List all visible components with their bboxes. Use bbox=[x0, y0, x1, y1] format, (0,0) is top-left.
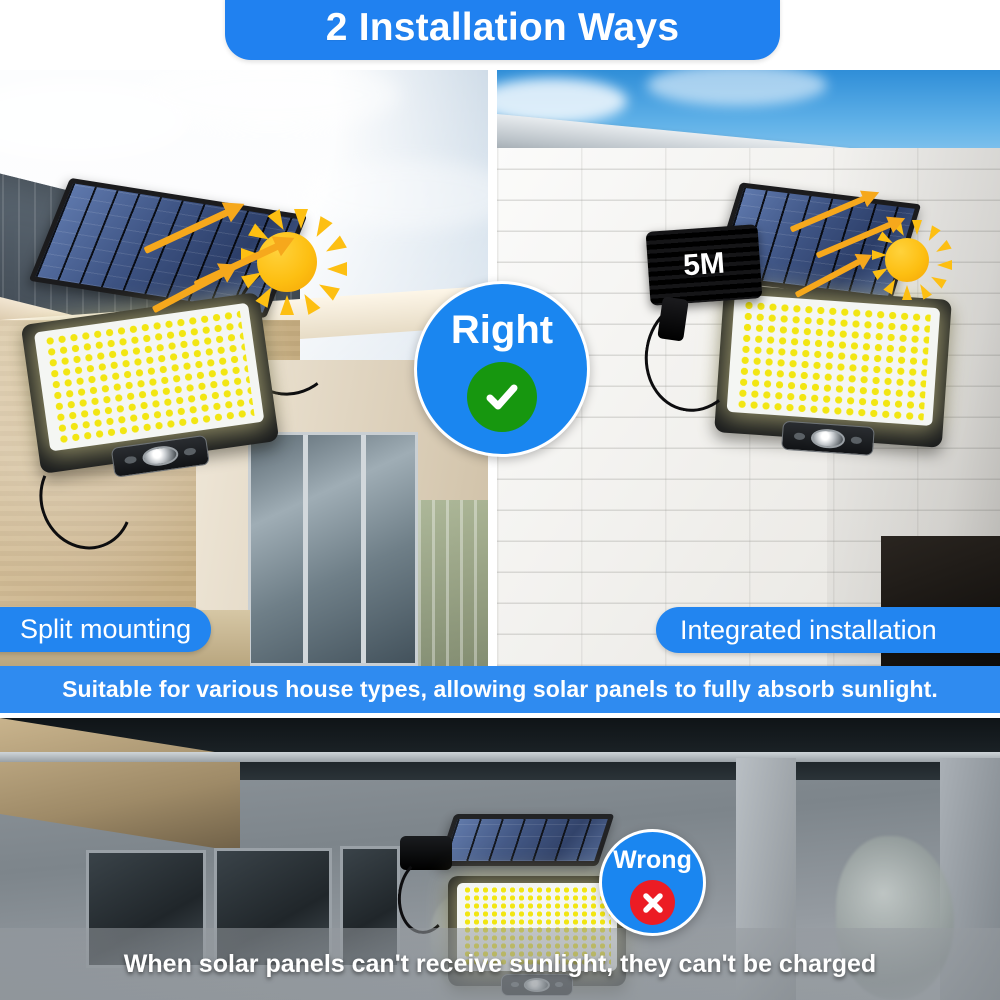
glass-door bbox=[248, 432, 418, 666]
sensor-pin bbox=[851, 437, 862, 444]
sun-ray bbox=[316, 279, 340, 301]
sun-ray bbox=[937, 260, 952, 270]
door-mullion bbox=[361, 435, 366, 663]
sun-ray bbox=[280, 295, 294, 315]
led-grid bbox=[43, 309, 255, 446]
badge-label: Wrong bbox=[613, 848, 692, 873]
cloud bbox=[647, 70, 827, 106]
photo-wrong-placement: When solar panels can't receive sunlight… bbox=[0, 718, 1000, 1000]
status-badge-right: Right bbox=[414, 281, 590, 457]
title-banner: 2 Installation Ways bbox=[225, 0, 780, 60]
sun-ray bbox=[294, 209, 308, 229]
badge-label: Right bbox=[451, 310, 553, 350]
pergola-beam bbox=[0, 752, 1000, 762]
pir-dome-icon bbox=[141, 444, 179, 468]
sun-ray bbox=[929, 273, 947, 289]
divider bbox=[0, 713, 1000, 718]
sun-ray bbox=[925, 225, 941, 243]
sun-ray bbox=[916, 282, 932, 300]
status-badge-wrong: Wrong bbox=[599, 829, 706, 936]
page-title: 2 Installation Ways bbox=[326, 6, 679, 50]
solar-cells bbox=[444, 819, 608, 861]
solar-panel-bottom bbox=[438, 814, 615, 866]
balcony-railing bbox=[418, 500, 488, 666]
label-split-mounting: Split mounting bbox=[0, 607, 211, 652]
sun-ray bbox=[934, 240, 952, 256]
sun-ray bbox=[912, 220, 922, 235]
label-integrated-installation: Integrated installation bbox=[656, 607, 1000, 653]
sensor-pin bbox=[124, 456, 136, 464]
sensor-pin bbox=[794, 433, 805, 440]
lamp-led-panel bbox=[727, 294, 940, 426]
caption-bar-top: Suitable for various house types, allowi… bbox=[0, 666, 1000, 713]
cable-length-label: 5M bbox=[647, 244, 761, 286]
infographic-page: 5M 2 Installation Ways Right Split mount… bbox=[0, 0, 1000, 1000]
sun-ray bbox=[311, 216, 333, 240]
cross-icon bbox=[630, 880, 675, 925]
led-lamp-right bbox=[714, 284, 952, 448]
panel-label-text: Integrated installation bbox=[680, 615, 937, 646]
sun-ray bbox=[902, 285, 912, 300]
panel-label-text: Split mounting bbox=[20, 614, 191, 645]
sensor-pin bbox=[184, 447, 196, 455]
sun-ray bbox=[298, 291, 320, 315]
pir-dome-icon bbox=[810, 428, 845, 450]
caption-top-text: Suitable for various house types, allowi… bbox=[62, 676, 938, 703]
sun-ray bbox=[327, 262, 347, 276]
led-grid bbox=[735, 299, 931, 421]
caption-bar-bottom: When solar panels can't receive sunlight… bbox=[0, 928, 1000, 1000]
sun-ray bbox=[883, 277, 899, 295]
caption-bottom-text: When solar panels can't receive sunlight… bbox=[124, 950, 876, 979]
door-mullion bbox=[303, 435, 308, 663]
cable-coil: 5M bbox=[646, 224, 763, 306]
check-icon bbox=[467, 362, 537, 432]
